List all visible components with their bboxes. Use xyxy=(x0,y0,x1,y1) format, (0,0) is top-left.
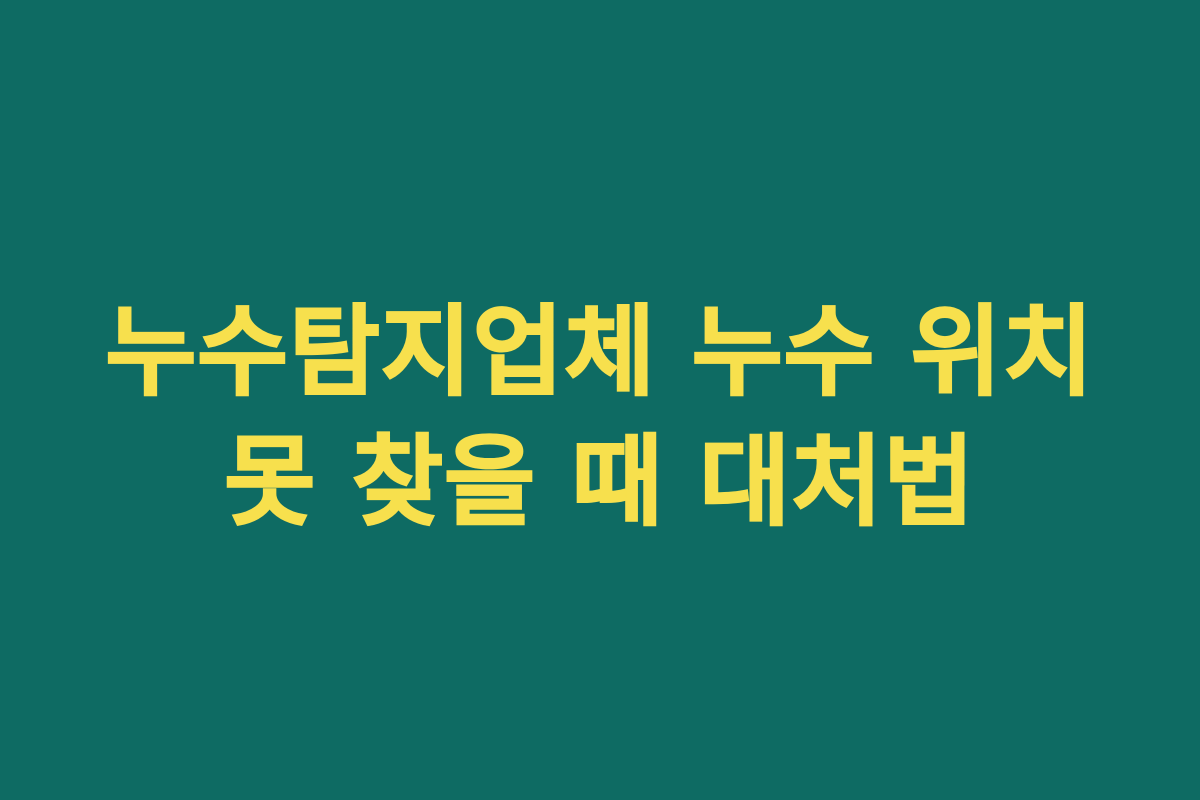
headline-line-2: 못 찾을 때 대처법 xyxy=(0,418,1200,548)
headline-line-1: 누수탐지업체 누수 위치 xyxy=(0,288,1200,418)
banner-canvas: 누수탐지업체 누수 위치 못 찾을 때 대처법 xyxy=(0,0,1200,800)
headline-block: 누수탐지업체 누수 위치 못 찾을 때 대처법 xyxy=(0,288,1200,548)
